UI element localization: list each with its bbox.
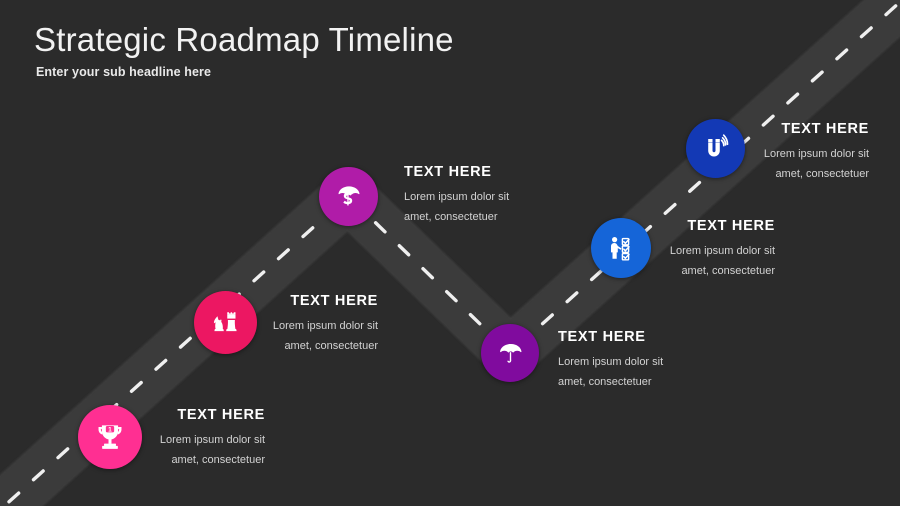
- milestone-1-body-line1: Lorem ipsum dolor sit: [65, 430, 265, 450]
- milestone-5-text: TEXT HERE Lorem ipsum dolor sit amet, co…: [575, 217, 775, 281]
- milestone-4-text: TEXT HERE Lorem ipsum dolor sit amet, co…: [558, 328, 778, 392]
- milestone-2-body-line1: Lorem ipsum dolor sit: [178, 316, 378, 336]
- milestone-4-marker[interactable]: [481, 324, 539, 382]
- milestone-2-heading: TEXT HERE: [178, 292, 378, 311]
- milestone-6-heading: TEXT HERE: [669, 120, 869, 139]
- slide-subtitle: Enter your sub headline here: [36, 64, 211, 81]
- milestone-2-body-line2: amet, consectetuer: [178, 336, 378, 356]
- milestone-6-body-line2: amet, consectetuer: [669, 164, 869, 184]
- milestone-3-heading: TEXT HERE: [404, 163, 624, 182]
- milestone-5-body-line1: Lorem ipsum dolor sit: [575, 241, 775, 261]
- milestone-4-heading: TEXT HERE: [558, 328, 778, 347]
- milestone-5-body-line2: amet, consectetuer: [575, 261, 775, 281]
- slide-title: Strategic Roadmap Timeline: [34, 20, 454, 60]
- milestone-1-text: TEXT HERE Lorem ipsum dolor sit amet, co…: [65, 406, 265, 470]
- milestone-3-marker[interactable]: [319, 167, 378, 226]
- milestone-6-body-line1: Lorem ipsum dolor sit: [669, 144, 869, 164]
- roadmap-slide: Strategic Roadmap Timeline Enter your su…: [0, 0, 900, 506]
- milestone-4-body-line1: Lorem ipsum dolor sit: [558, 352, 778, 372]
- milestone-5-heading: TEXT HERE: [575, 217, 775, 236]
- umbrella-icon: [495, 338, 526, 369]
- milestone-1-body-line2: amet, consectetuer: [65, 450, 265, 470]
- milestone-2-text: TEXT HERE Lorem ipsum dolor sit amet, co…: [178, 292, 378, 356]
- milestone-6-text: TEXT HERE Lorem ipsum dolor sit amet, co…: [669, 120, 869, 184]
- milestone-1-heading: TEXT HERE: [65, 406, 265, 425]
- umbrella-dollar-icon: [333, 181, 365, 213]
- milestone-3-body-line1: Lorem ipsum dolor sit: [404, 187, 624, 207]
- milestone-4-body-line2: amet, consectetuer: [558, 372, 778, 392]
